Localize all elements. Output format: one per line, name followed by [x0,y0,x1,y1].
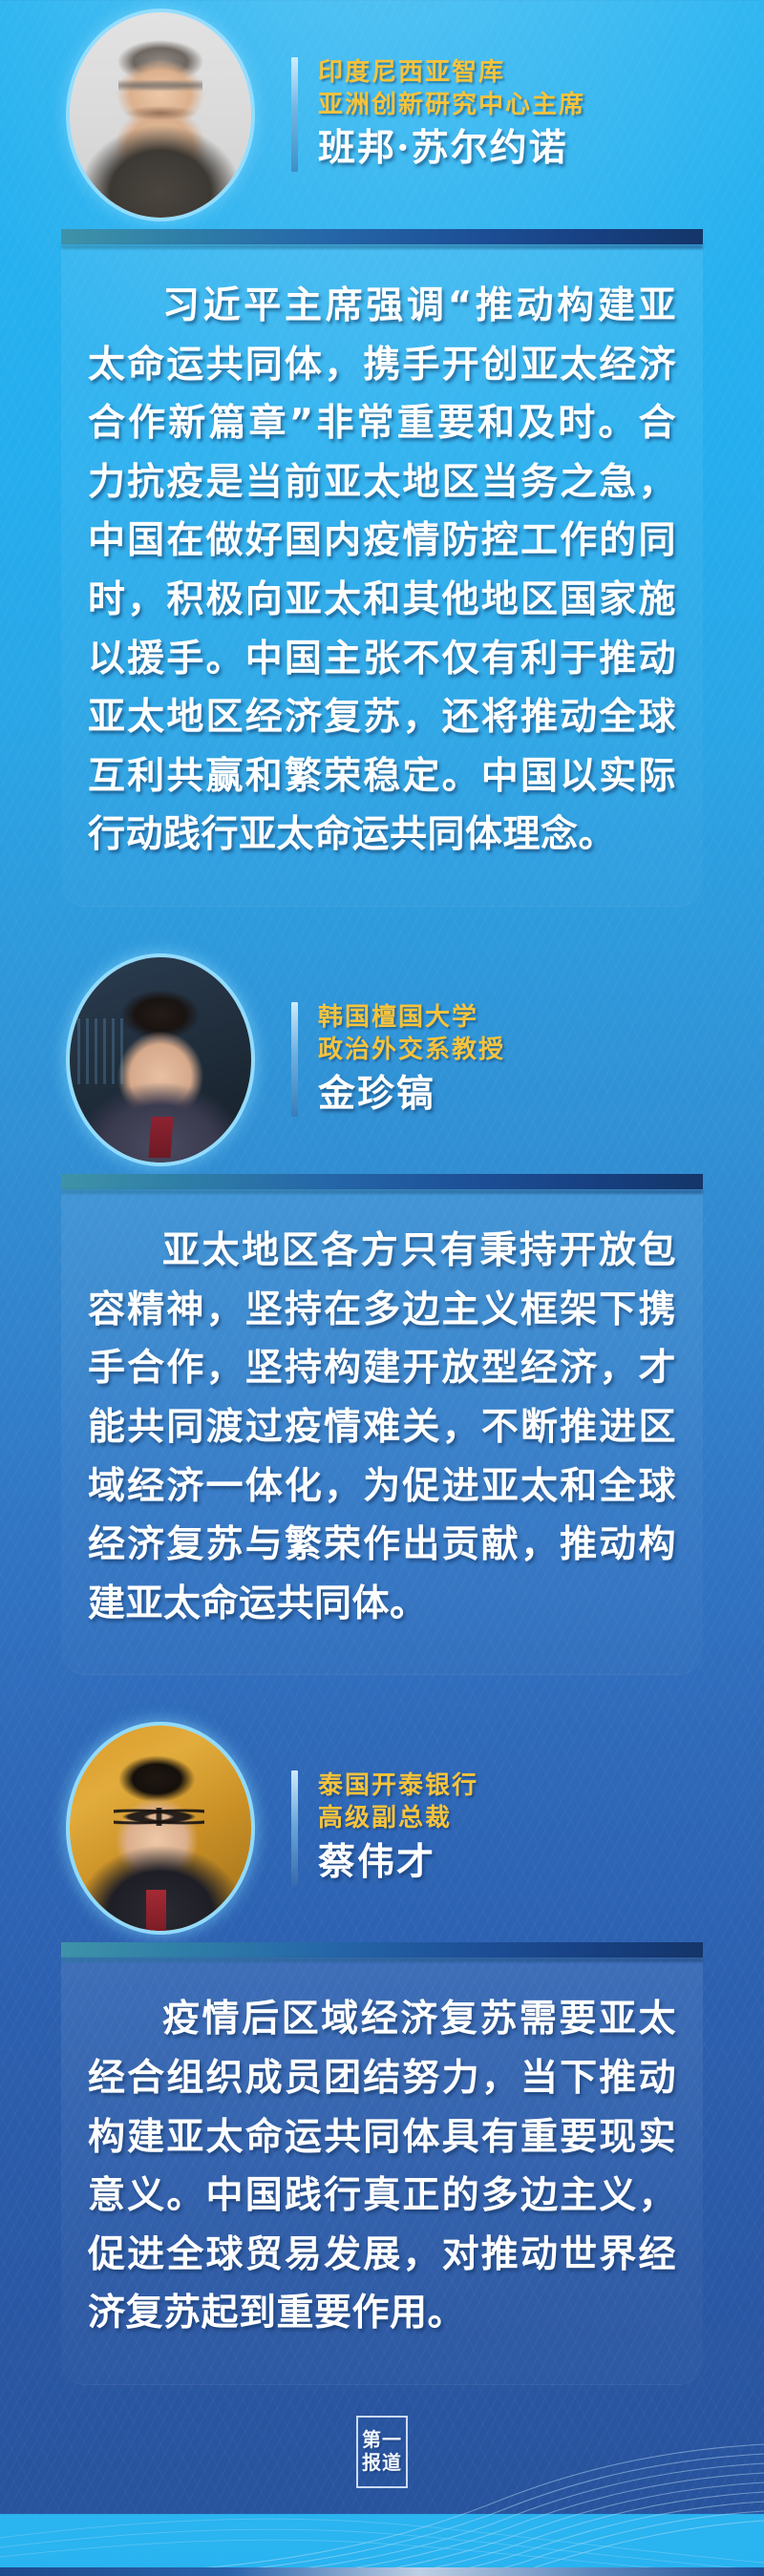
bottom-strip [0,2567,764,2576]
title-wrap-3: 泰国开泰银行 高级副总裁 蔡伟才 [291,1770,478,1885]
organization-line-1: 印度尼西亚智库 [318,57,585,90]
avatar-photo-icon [70,12,251,218]
quote-panel-2: 亚太地区各方只有秉持开放包容精神，坚持在多边主义框架下携手合作，坚持构建开放型经… [61,1174,703,1675]
avatar [70,1726,251,1931]
poster-page: 印度尼西亚智库 亚洲创新研究中心主席 班邦·苏尔约诺 习近平主席强调“推动构建亚… [0,0,764,2576]
card-gap-2 [0,1675,764,1713]
avatar [70,12,251,218]
titles-2: 韩国檀国大学 政治外交系教授 金珍镐 [318,1002,505,1117]
organization-line-2: 政治外交系教授 [318,1035,505,1067]
brand-logo-badge[interactable]: 第一 报道 [356,2416,408,2488]
title-wrap-2: 韩国檀国大学 政治外交系教授 金珍镐 [291,1002,505,1117]
card-header-1: 印度尼西亚智库 亚洲创新研究中心主席 班邦·苏尔约诺 [0,0,764,229]
organization-line-1: 泰国开泰银行 [318,1770,478,1803]
organization-line-2: 亚洲创新研究中心主席 [318,90,585,122]
titles-3: 泰国开泰银行 高级副总裁 蔡伟才 [318,1770,478,1885]
expert-card-1: 印度尼西亚智库 亚洲创新研究中心主席 班邦·苏尔约诺 习近平主席强调“推动构建亚… [0,0,764,907]
quote-text: 习近平主席强调“推动构建亚太命运共同体，携手开创亚太经济合作新篇章”非常重要和及… [88,277,676,865]
titles-1: 印度尼西亚智库 亚洲创新研究中心主席 班邦·苏尔约诺 [318,57,585,172]
person-name: 金珍镐 [318,1071,505,1118]
panel-top-bar [61,1942,703,1958]
person-name: 蔡伟才 [318,1839,478,1886]
quote-text: 亚太地区各方只有秉持开放包容精神，坚持在多边主义框架下携手合作，坚持构建开放型经… [88,1222,676,1633]
avatar-photo-icon [70,957,251,1162]
organization-line-1: 韩国檀国大学 [318,1002,505,1035]
avatar-photo-icon [70,1726,251,1931]
avatar [70,957,251,1162]
person-name: 班邦·苏尔约诺 [318,125,585,172]
quote-text: 疫情后区域经济复苏需要亚太经合组织成员团结努力，当下推动构建亚太命运共同体具有重… [88,1990,676,2343]
card-gap-1 [0,907,764,945]
brand-logo-line-1: 第一 [362,2430,402,2451]
expert-card-3: 泰国开泰银行 高级副总裁 蔡伟才 疫情后区域经济复苏需要亚太经合组织成员团结努力… [0,1713,764,2385]
accent-bar-icon [291,1002,298,1117]
panel-top-bar [61,1174,703,1189]
card-header-2: 韩国檀国大学 政治外交系教授 金珍镐 [0,945,764,1174]
title-wrap-1: 印度尼西亚智库 亚洲创新研究中心主席 班邦·苏尔约诺 [291,57,585,172]
accent-bar-icon [291,1770,298,1885]
card-header-3: 泰国开泰银行 高级副总裁 蔡伟才 [0,1713,764,1942]
brand-logo-line-2: 报道 [362,2453,402,2474]
quote-panel-1: 习近平主席强调“推动构建亚太命运共同体，携手开创亚太经济合作新篇章”非常重要和及… [61,229,703,907]
organization-line-2: 高级副总裁 [318,1803,478,1835]
quote-panel-3: 疫情后区域经济复苏需要亚太经合组织成员团结努力，当下推动构建亚太命运共同体具有重… [61,1942,703,2385]
expert-card-2: 韩国檀国大学 政治外交系教授 金珍镐 亚太地区各方只有秉持开放包容精神，坚持在多… [0,945,764,1675]
panel-top-bar [61,229,703,244]
footer: 第一 报道 [0,2385,764,2576]
accent-bar-icon [291,57,298,172]
